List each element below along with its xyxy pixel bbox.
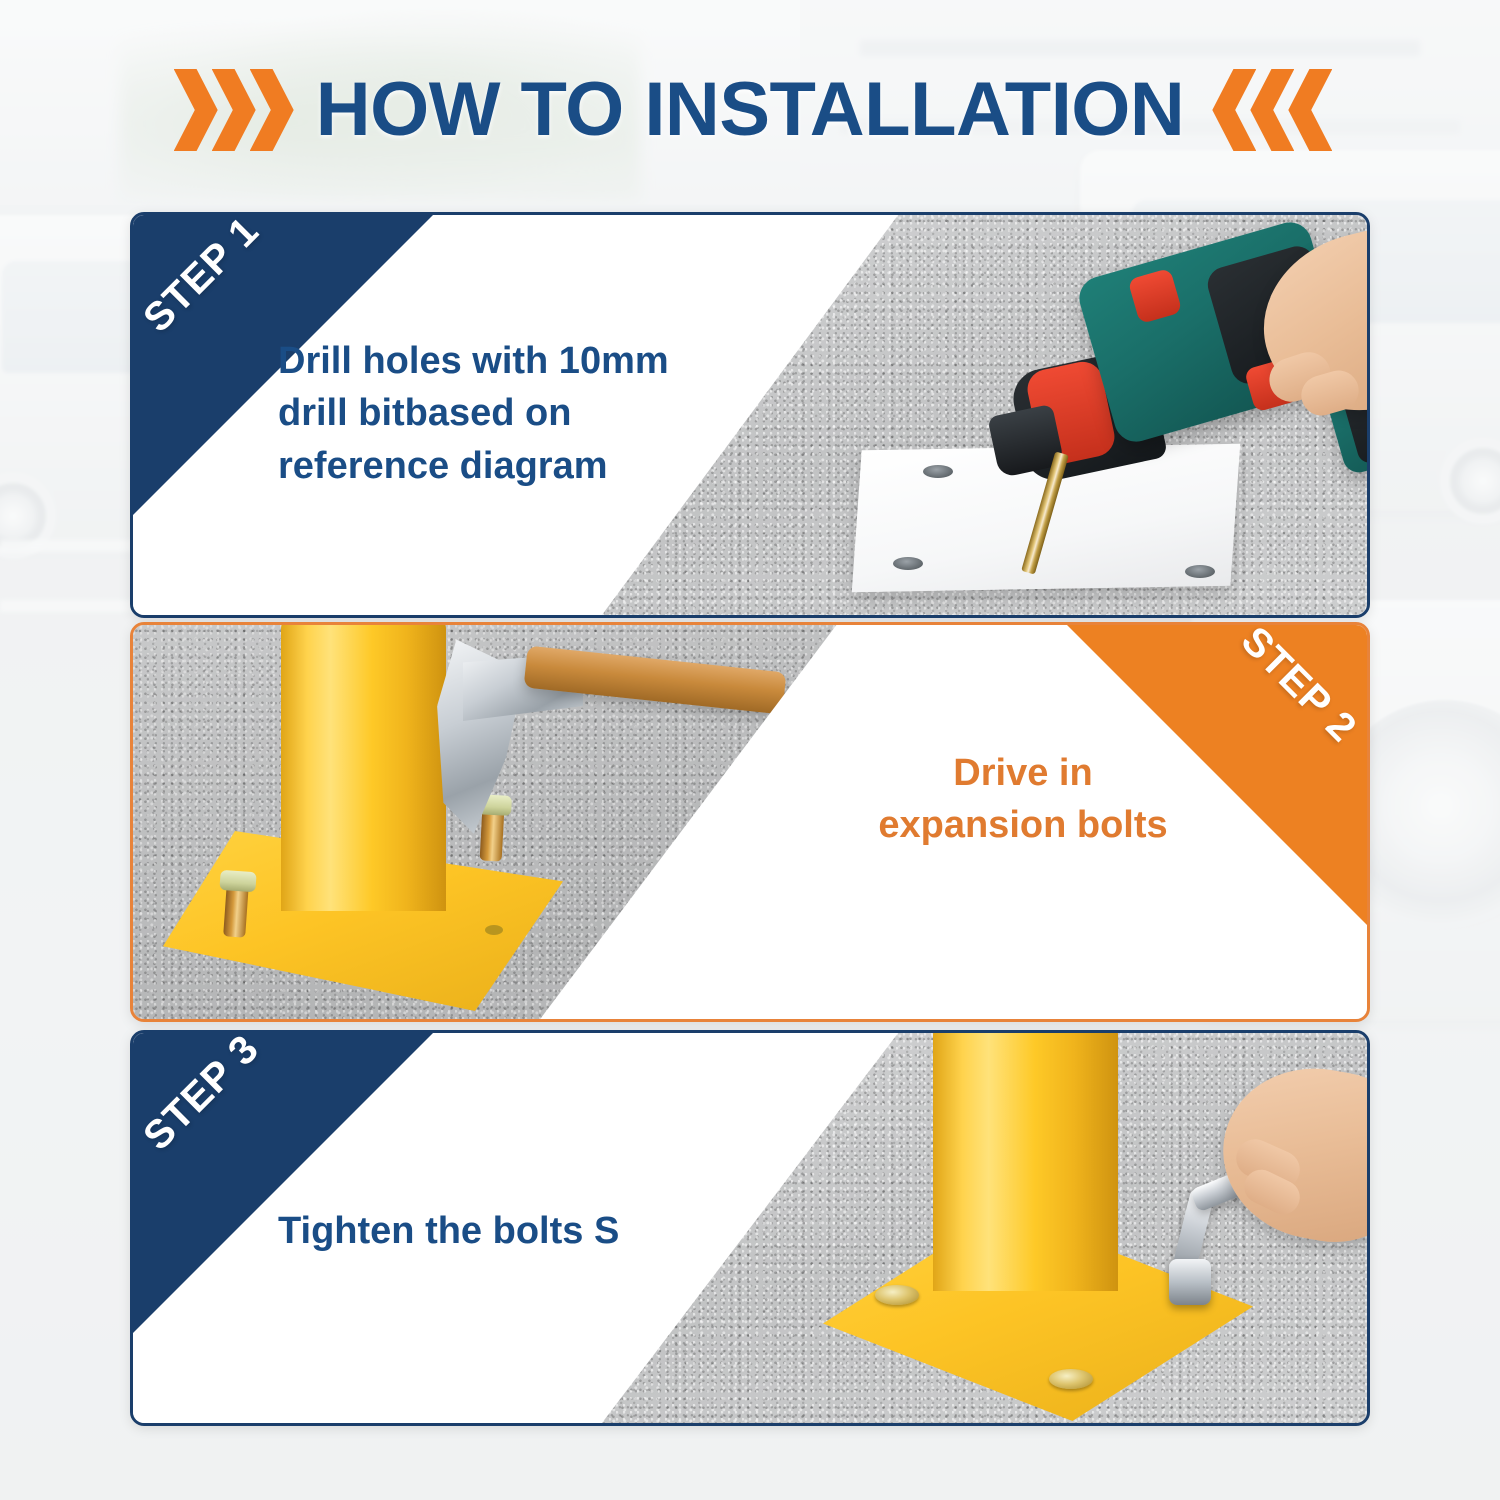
chevron-left-icon [1212,69,1256,151]
bollard-pipe [281,625,446,911]
plate-hole [485,925,503,935]
step-card-1: STEP 1 Drill holes with 10mm drill bitba… [130,212,1370,618]
chevron-left-icon [1288,69,1332,151]
expansion-bolt [480,806,505,861]
step-2-text: Drive in expansion bolts [793,747,1253,852]
step-card-2: STEP 2 Drive in expansion bolts [130,622,1370,1022]
step-card-3: STEP 3 Tighten the bolts S [130,1030,1370,1426]
chevron-right-icon [212,69,256,151]
step-3-text: Tighten the bolts S [278,1205,838,1257]
chevron-right-icon [250,69,294,151]
page-title: HOW TO INSTALLATION [316,72,1185,148]
plate-hole [923,465,953,478]
badge-triangle [133,1033,433,1333]
base-plate-bolt [875,1285,919,1305]
base-plate-bolt [1049,1369,1093,1389]
chevron-left-icon [1250,69,1294,151]
chevrons-right [1212,69,1326,151]
bolt-cap [1169,1259,1211,1305]
plate-hole [893,557,923,570]
step-3-badge: STEP 3 [133,1033,433,1333]
step-1-text: Drill holes with 10mm drill bitbased on … [278,335,758,492]
chevron-right-icon [174,69,218,151]
page-header: HOW TO INSTALLATION [0,50,1500,170]
bollard-pipe [933,1033,1118,1291]
expansion-bolt [223,882,249,937]
chevrons-left [174,69,288,151]
plate-hole [1185,565,1215,578]
